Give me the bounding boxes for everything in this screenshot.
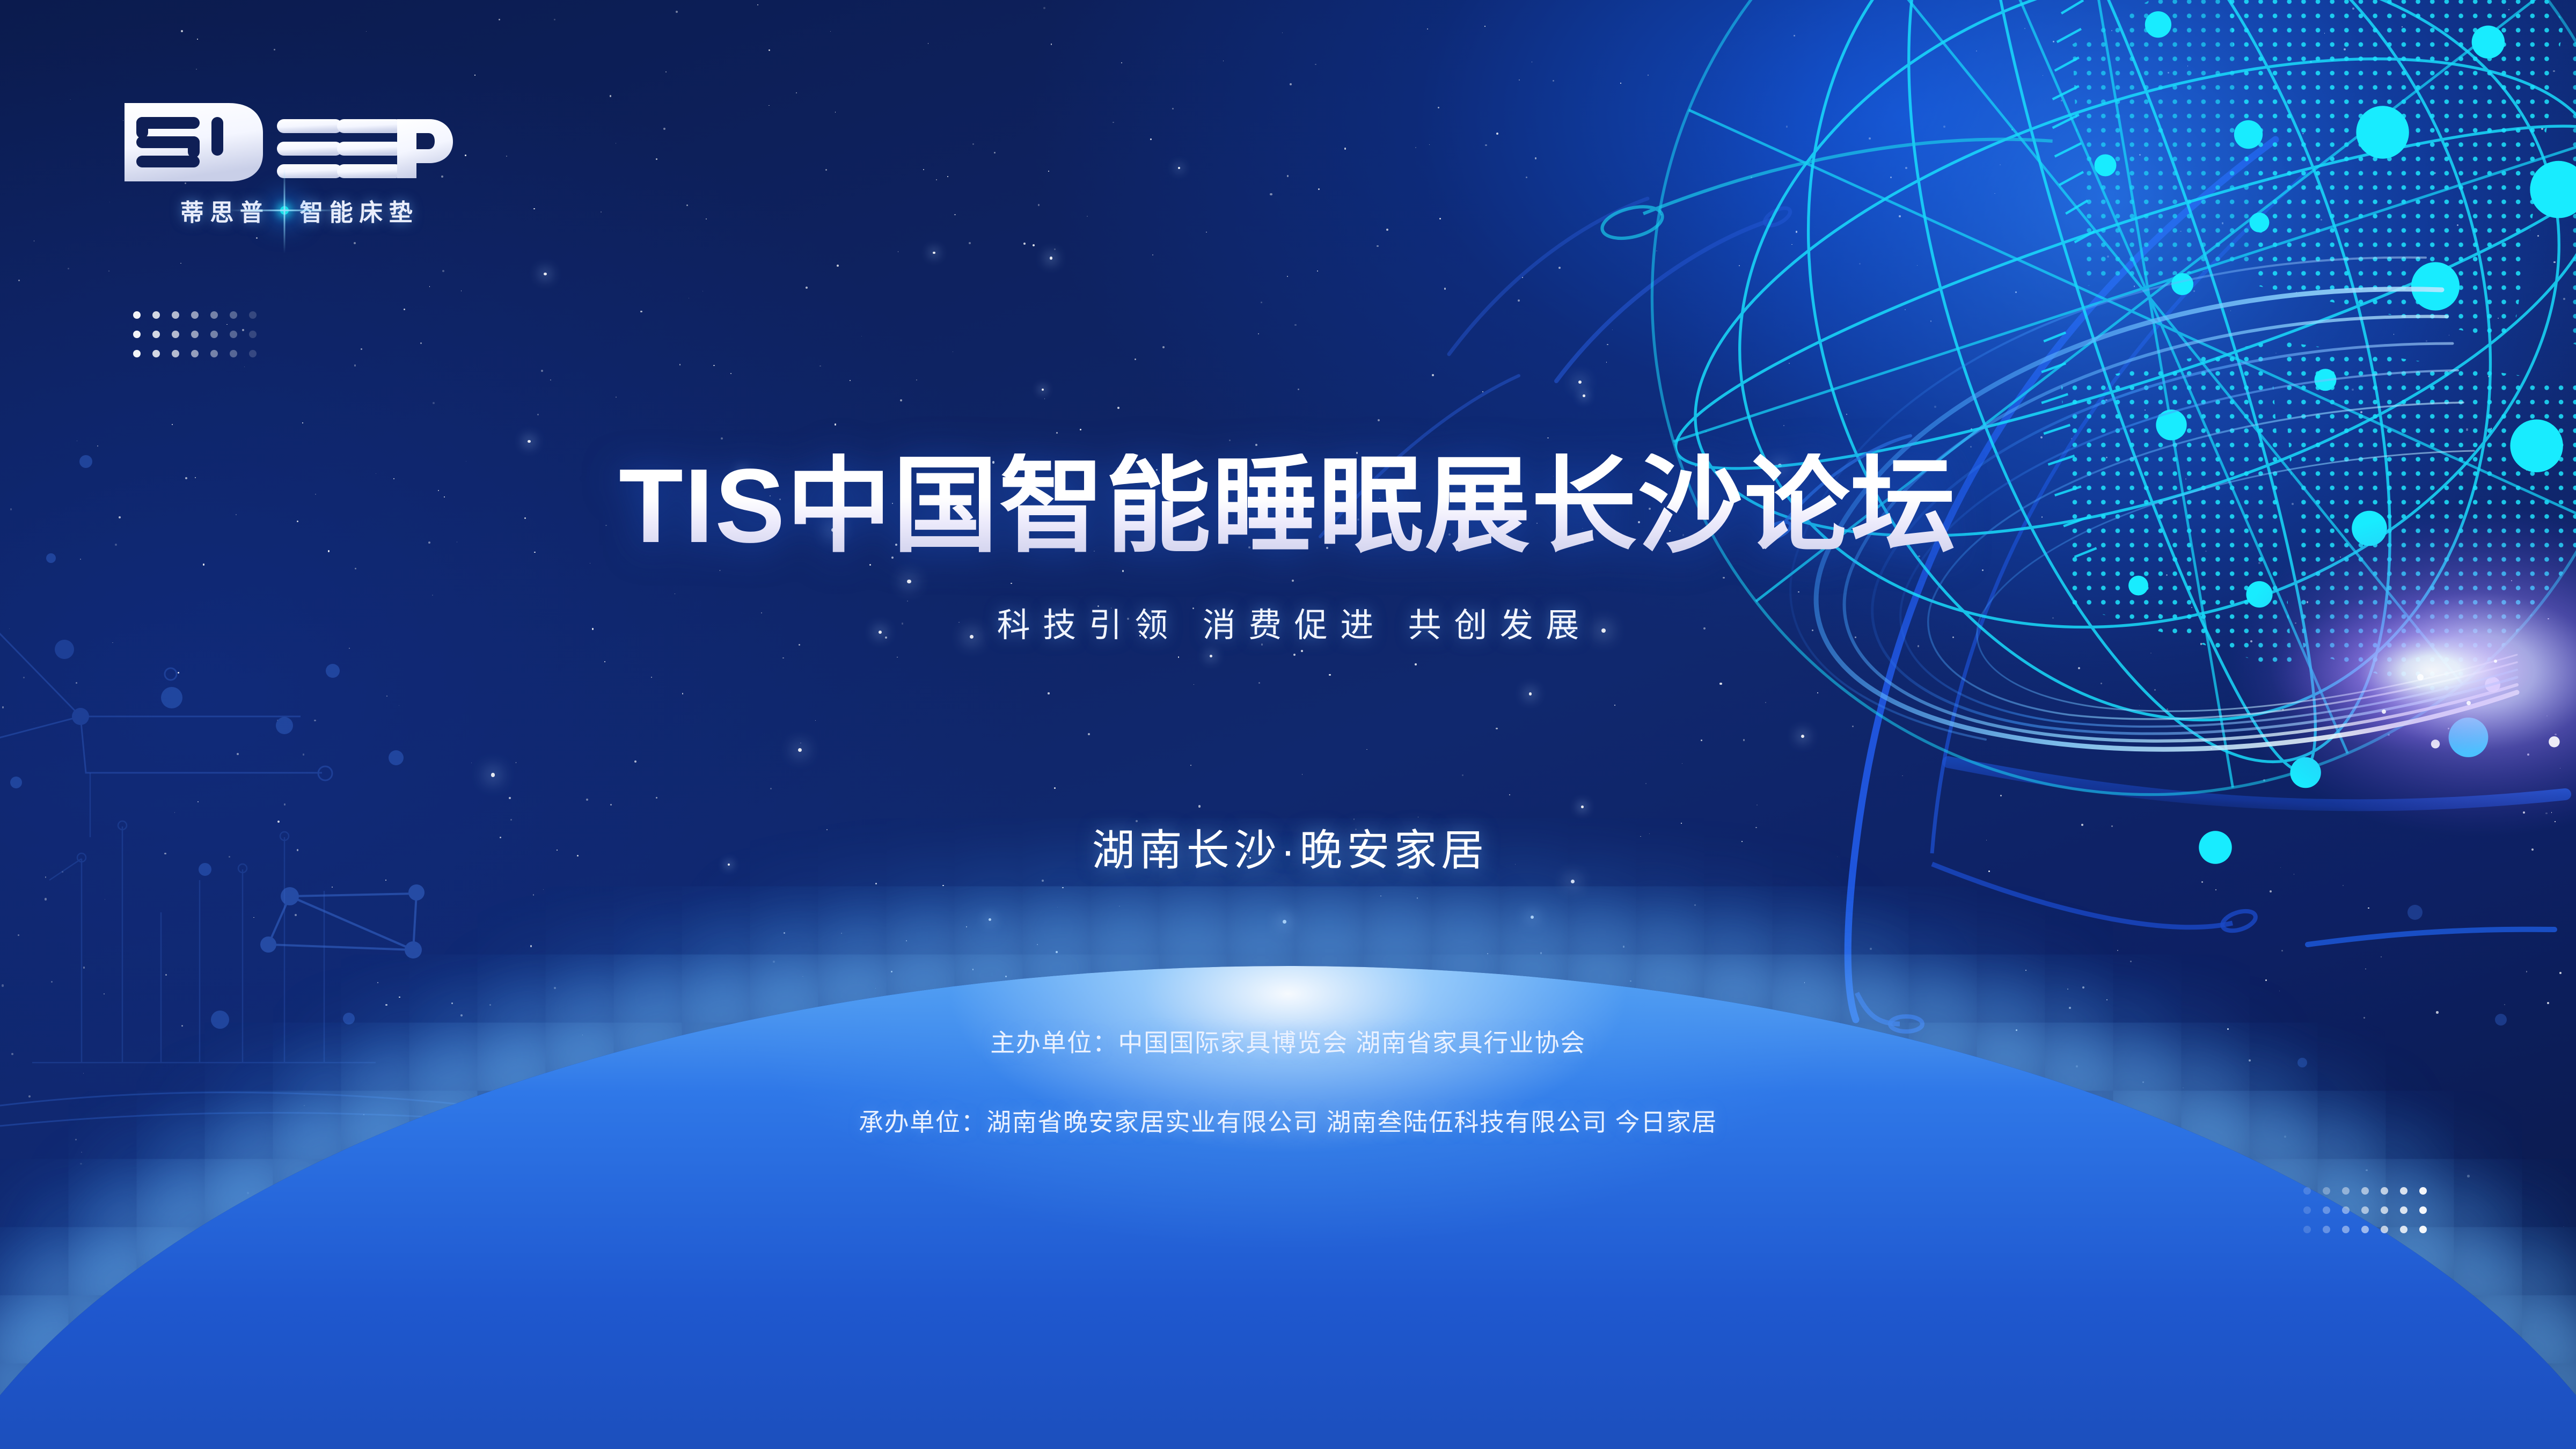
page-subtitle: 科技引领 消费促进 共创发展 <box>0 609 2576 642</box>
venue-label: 湖南长沙·晚安家居 <box>0 829 2576 872</box>
poster-canvas: 蒂思普 智能床垫 TIS中国智能睡眠展长沙论坛 科技引领 消费促进 共创发展 湖… <box>0 0 2576 1449</box>
blue-ribbon-arcs <box>1395 204 2576 1009</box>
brand-tagline: 蒂思普 智能床垫 <box>122 193 477 228</box>
glow-dot-separator-icon <box>280 206 289 215</box>
dot-grid-left <box>133 311 257 357</box>
sleep-wordmark-logo <box>122 100 455 185</box>
page-title: TIS中国智能睡眠展长沙论坛 <box>0 453 2576 559</box>
host-organizers: 主办单位：中国国际家具博览会 湖南省家具行业协会 <box>0 1030 2576 1055</box>
earth-horizon-glow <box>376 853 2200 1449</box>
brand-logo[interactable]: 蒂思普 智能床垫 <box>122 100 477 228</box>
co-host-organizers: 承办单位：湖南省晚安家居实业有限公司 湖南叁陆伍科技有限公司 今日家居 <box>0 1110 2576 1135</box>
dot-grid-right <box>2303 1187 2427 1233</box>
wireframe-globe <box>1599 0 2576 869</box>
